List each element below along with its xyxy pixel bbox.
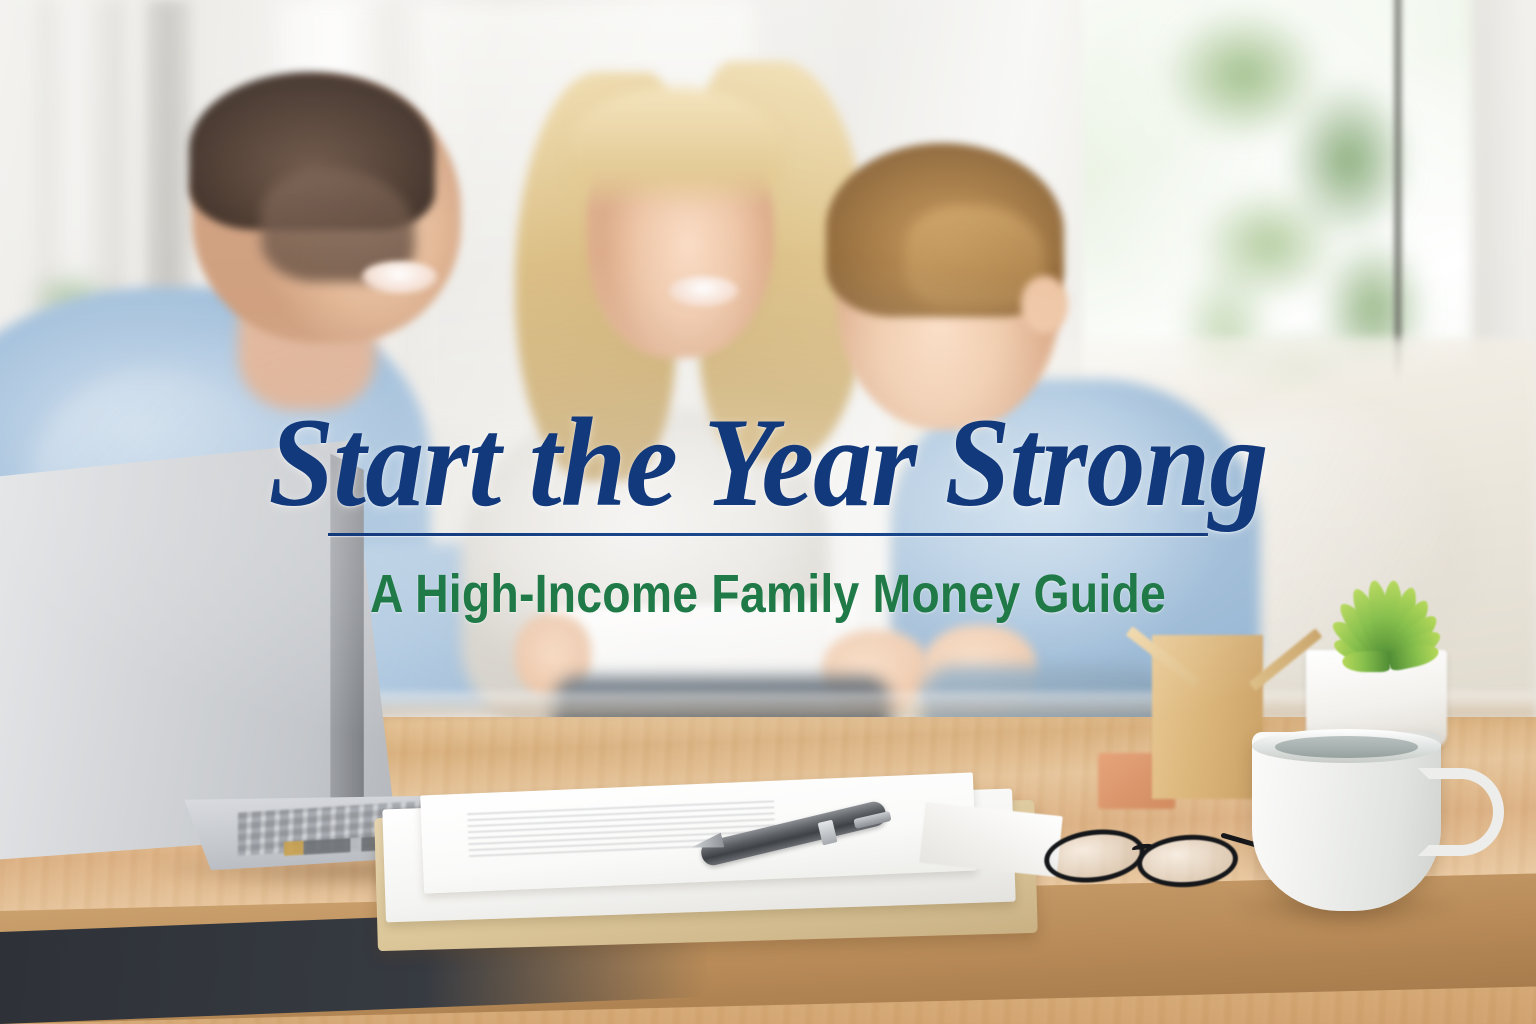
father-smile — [361, 261, 438, 294]
son-ear — [1021, 276, 1067, 332]
eyeglass-lens-right — [1135, 831, 1240, 890]
eyeglasses — [1044, 824, 1274, 891]
mother-smile — [668, 276, 739, 307]
eyeglass-lens-left — [1042, 824, 1149, 888]
succulent-plant — [1283, 558, 1475, 671]
mother-hair-top — [568, 87, 783, 210]
mug-interior — [1275, 736, 1418, 758]
promo-banner: Start the Year Strong A High-Income Fami… — [0, 0, 1536, 1024]
laptop-lid-edge — [330, 445, 364, 855]
background-photo — [0, 0, 1536, 1024]
mug-handle — [1418, 768, 1504, 856]
